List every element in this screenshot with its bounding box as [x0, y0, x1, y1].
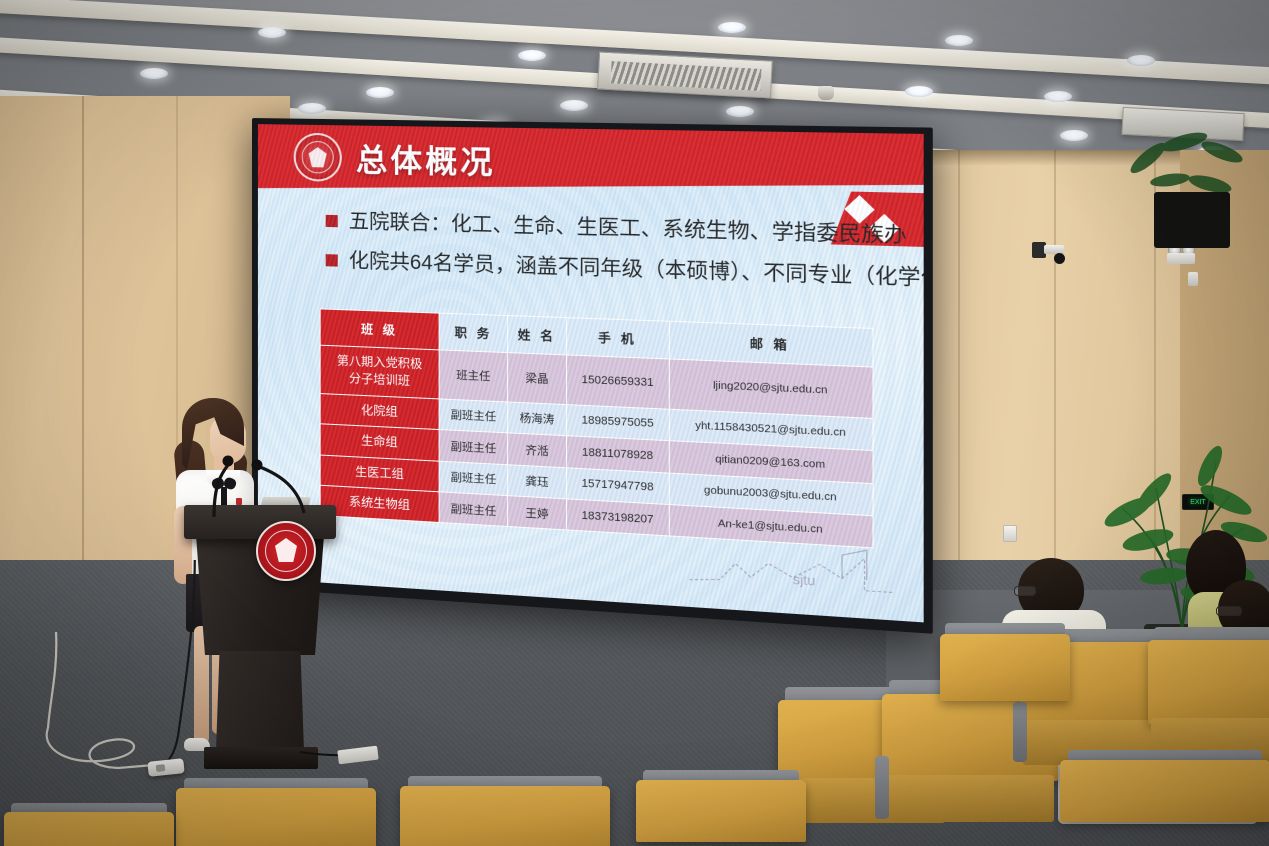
microphone-icon	[252, 460, 263, 471]
ceiling-downlight	[1044, 91, 1072, 102]
cell-name: 龚珏	[508, 464, 567, 499]
bullet-square-icon	[326, 215, 338, 227]
ceiling-downlight	[258, 27, 286, 38]
ceiling-downlight	[366, 87, 394, 98]
ceiling-downlight	[945, 35, 973, 46]
ceiling-downlight	[726, 106, 754, 117]
bullet-square-icon	[326, 254, 338, 266]
bullet-text: 五院联合：化工、生命、生医工、系统生物、学指委民族办	[349, 208, 907, 249]
bullet-text: 化院共64名学员，涵盖不同年级（本硕博）、不同专业（化学化工高分子）	[349, 248, 924, 297]
cell-role: 副班主任	[439, 492, 507, 527]
microphone-group	[180, 387, 370, 547]
slide-canvas: 总体概况 五院联合：化工、生命、生医工、系统生物、学指委民族办 化院共64名学员…	[258, 124, 924, 622]
cell-role: 班主任	[439, 350, 507, 402]
ceiling-downlight	[718, 22, 746, 33]
col-header-name: 姓 名	[508, 316, 567, 355]
auditorium-chair	[4, 812, 174, 846]
list-item: 五院联合：化工、生命、生医工、系统生物、学指委民族办	[326, 208, 901, 250]
smoke-detector-icon	[818, 86, 834, 100]
auditorium-chair	[400, 786, 610, 846]
ceiling-downlight	[905, 86, 933, 97]
col-header-phone: 手 机	[566, 318, 669, 359]
roster-table: 班 级 职 务 姓 名 手 机 邮 箱 第八期入党积极分子培训班 班主任 梁晶 …	[320, 308, 874, 548]
presentation-hall-photo: EXIT 总体概况 五院联合：化工、生命、生医工、系统生物、学指委民族办	[0, 0, 1269, 846]
slide-title-bar: 总体概况	[258, 124, 924, 203]
cell-role: 副班主任	[439, 399, 507, 433]
cell-name: 王婷	[508, 496, 567, 531]
glasses-icon	[1014, 586, 1036, 596]
col-header-role: 职 务	[439, 313, 507, 352]
ceiling-downlight	[518, 50, 546, 61]
cell-role: 副班主任	[439, 430, 507, 465]
cell-phone: 18373198207	[566, 499, 669, 536]
ceiling-downlight	[140, 68, 168, 79]
auditorium-chair	[176, 788, 376, 846]
ceiling-downlight	[1127, 55, 1155, 66]
auditorium-chair	[940, 634, 1070, 754]
ceiling-downlight	[298, 103, 326, 114]
cell-name: 梁晶	[508, 353, 567, 405]
col-header-class: 班 级	[320, 309, 439, 350]
svg-text:sjtu: sjtu	[793, 571, 816, 588]
list-item: 化院共64名学员，涵盖不同年级（本硕博）、不同专业（化学化工高分子）	[326, 247, 901, 291]
slide-bullet-list: 五院联合：化工、生命、生医工、系统生物、学指委民族办 化院共64名学员，涵盖不同…	[326, 208, 901, 306]
sjtu-seal-icon	[294, 133, 342, 182]
wall-dispenser	[1188, 272, 1198, 286]
cell-phone: 15026659331	[566, 355, 669, 409]
cell-name: 齐湉	[508, 433, 567, 467]
led-screen: 总体概况 五院联合：化工、生命、生医工、系统生物、学指委民族办 化院共64名学员…	[252, 118, 933, 634]
wall-camera-icon	[1032, 242, 1064, 264]
slide-title: 总体概况	[356, 135, 496, 183]
microphone-icon	[223, 456, 234, 467]
cell-phone: 18985975055	[566, 404, 669, 440]
auditorium-chair	[636, 780, 806, 846]
cell-phone: 18811078928	[566, 436, 669, 473]
roster-table-body: 第八期入党积极分子培训班 班主任 梁晶 15026659331 ljing202…	[320, 345, 873, 548]
cell-name: 杨海涛	[508, 402, 567, 436]
potted-plant-back	[1118, 118, 1269, 248]
sjtu-campus-watermark: sjtu	[687, 531, 898, 603]
ceiling-downlight	[1060, 130, 1088, 141]
glasses-icon	[1216, 606, 1242, 616]
auditorium-chair	[1060, 760, 1269, 846]
cell-email: ljing2020@sjtu.edu.cn	[669, 359, 873, 418]
light-switch[interactable]	[1003, 525, 1017, 542]
ceiling-downlight	[560, 100, 588, 111]
floor-cables	[0, 560, 480, 810]
cell-role: 副班主任	[439, 461, 507, 496]
